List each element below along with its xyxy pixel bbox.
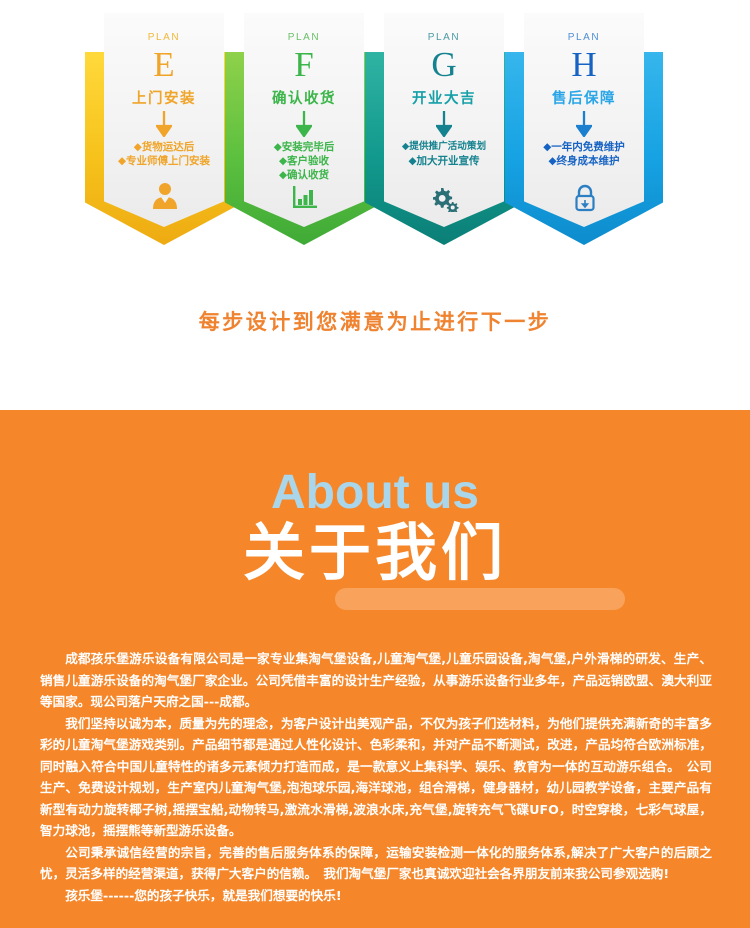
plan-bullets-h: ◆一年内免费维护 ◆终身成本维护 bbox=[524, 140, 644, 168]
about-paragraph: 成都孩乐堡游乐设备有限公司是一家专业集淘气堡设备,儿童淘气堡,儿童乐园设备,淘气… bbox=[40, 648, 712, 713]
about-title-cn: 关于我们 bbox=[0, 510, 750, 596]
plan-bullet: ◆货物运达后 bbox=[104, 140, 224, 154]
plan-bullets-g: ◆提供推广活动策划 ◆加大开业宣传 bbox=[384, 140, 504, 168]
plan-bullet: ◆一年内免费维护 bbox=[524, 140, 644, 154]
plan-letter-f: F bbox=[244, 45, 364, 85]
lock-icon bbox=[505, 184, 665, 214]
page-root: PLAN E 上门安装 ◆货物运达后 ◆专业师傅上门安装 PLAN F bbox=[0, 0, 750, 928]
plan-bullet: ◆客户验收 bbox=[244, 154, 364, 168]
plan-bullet: ◆安装完毕后 bbox=[244, 140, 364, 154]
plan-letter-e: E bbox=[104, 45, 224, 85]
plan-bullet: ◆提供推广活动策划 bbox=[384, 140, 504, 154]
plan-word-e: PLAN bbox=[104, 32, 224, 43]
gears-icon bbox=[365, 186, 525, 216]
about-section: About us 关于我们 成都孩乐堡游乐设备有限公司是一家专业集淘气堡设备,儿… bbox=[0, 410, 750, 928]
bar-chart-icon bbox=[225, 184, 385, 214]
about-paragraphs: 成都孩乐堡游乐设备有限公司是一家专业集淘气堡设备,儿童淘气堡,儿童乐园设备,淘气… bbox=[40, 648, 712, 906]
plan-card-e[interactable]: PLAN E 上门安装 ◆货物运达后 ◆专业师傅上门安装 bbox=[85, 0, 245, 250]
about-paragraph: 孩乐堡------您的孩子快乐，就是我们想要的快乐! bbox=[40, 885, 712, 907]
plan-title-f: 确认收货 bbox=[244, 87, 364, 108]
plan-letter-g: G bbox=[384, 45, 504, 85]
plan-bullets-f: ◆安装完毕后 ◆客户验收 ◆确认收货 bbox=[244, 140, 364, 182]
plan-bullet: ◆专业师傅上门安装 bbox=[104, 154, 224, 168]
plan-word-f: PLAN bbox=[244, 32, 364, 43]
plan-title-h: 售后保障 bbox=[524, 87, 644, 108]
person-icon bbox=[85, 182, 245, 212]
plan-card-row: PLAN E 上门安装 ◆货物运达后 ◆专业师傅上门安装 PLAN F bbox=[0, 0, 750, 260]
about-paragraph: 公司秉承诚信经营的宗旨，完善的售后服务体系的保障，运输安装检测一体化的服务体系,… bbox=[40, 842, 712, 885]
plan-card-h[interactable]: PLAN H 售后保障 ◆一年内免费维护 ◆终身成本维护 bbox=[505, 0, 665, 250]
plan-card-f[interactable]: PLAN F 确认收货 ◆安装完毕后 ◆客户验收 ◆确认收货 bbox=[225, 0, 385, 250]
down-arrow-icon-g bbox=[384, 111, 504, 137]
tagline: 每步设计到您满意为止进行下一步 bbox=[0, 306, 750, 336]
plan-word-h: PLAN bbox=[524, 32, 644, 43]
plan-title-g: 开业大吉 bbox=[384, 87, 504, 108]
plan-title-e: 上门安装 bbox=[104, 87, 224, 108]
plan-letter-h: H bbox=[524, 45, 644, 85]
plan-bullets-e: ◆货物运达后 ◆专业师傅上门安装 bbox=[104, 140, 224, 168]
about-paragraph: 我们坚持以诚为本，质量为先的理念，为客户设计出美观产品，不仅为孩子们选材料，为他… bbox=[40, 713, 712, 842]
plan-bullet: ◆终身成本维护 bbox=[524, 154, 644, 168]
down-arrow-icon-e bbox=[104, 111, 224, 137]
plan-bullet: ◆加大开业宣传 bbox=[384, 154, 504, 168]
down-arrow-icon-h bbox=[524, 111, 644, 137]
plan-card-g[interactable]: PLAN G 开业大吉 ◆提供推广活动策划 ◆加大开业宣传 bbox=[365, 0, 525, 250]
plan-word-g: PLAN bbox=[384, 32, 504, 43]
plan-bullet: ◆确认收货 bbox=[244, 168, 364, 182]
down-arrow-icon-f bbox=[244, 111, 364, 137]
